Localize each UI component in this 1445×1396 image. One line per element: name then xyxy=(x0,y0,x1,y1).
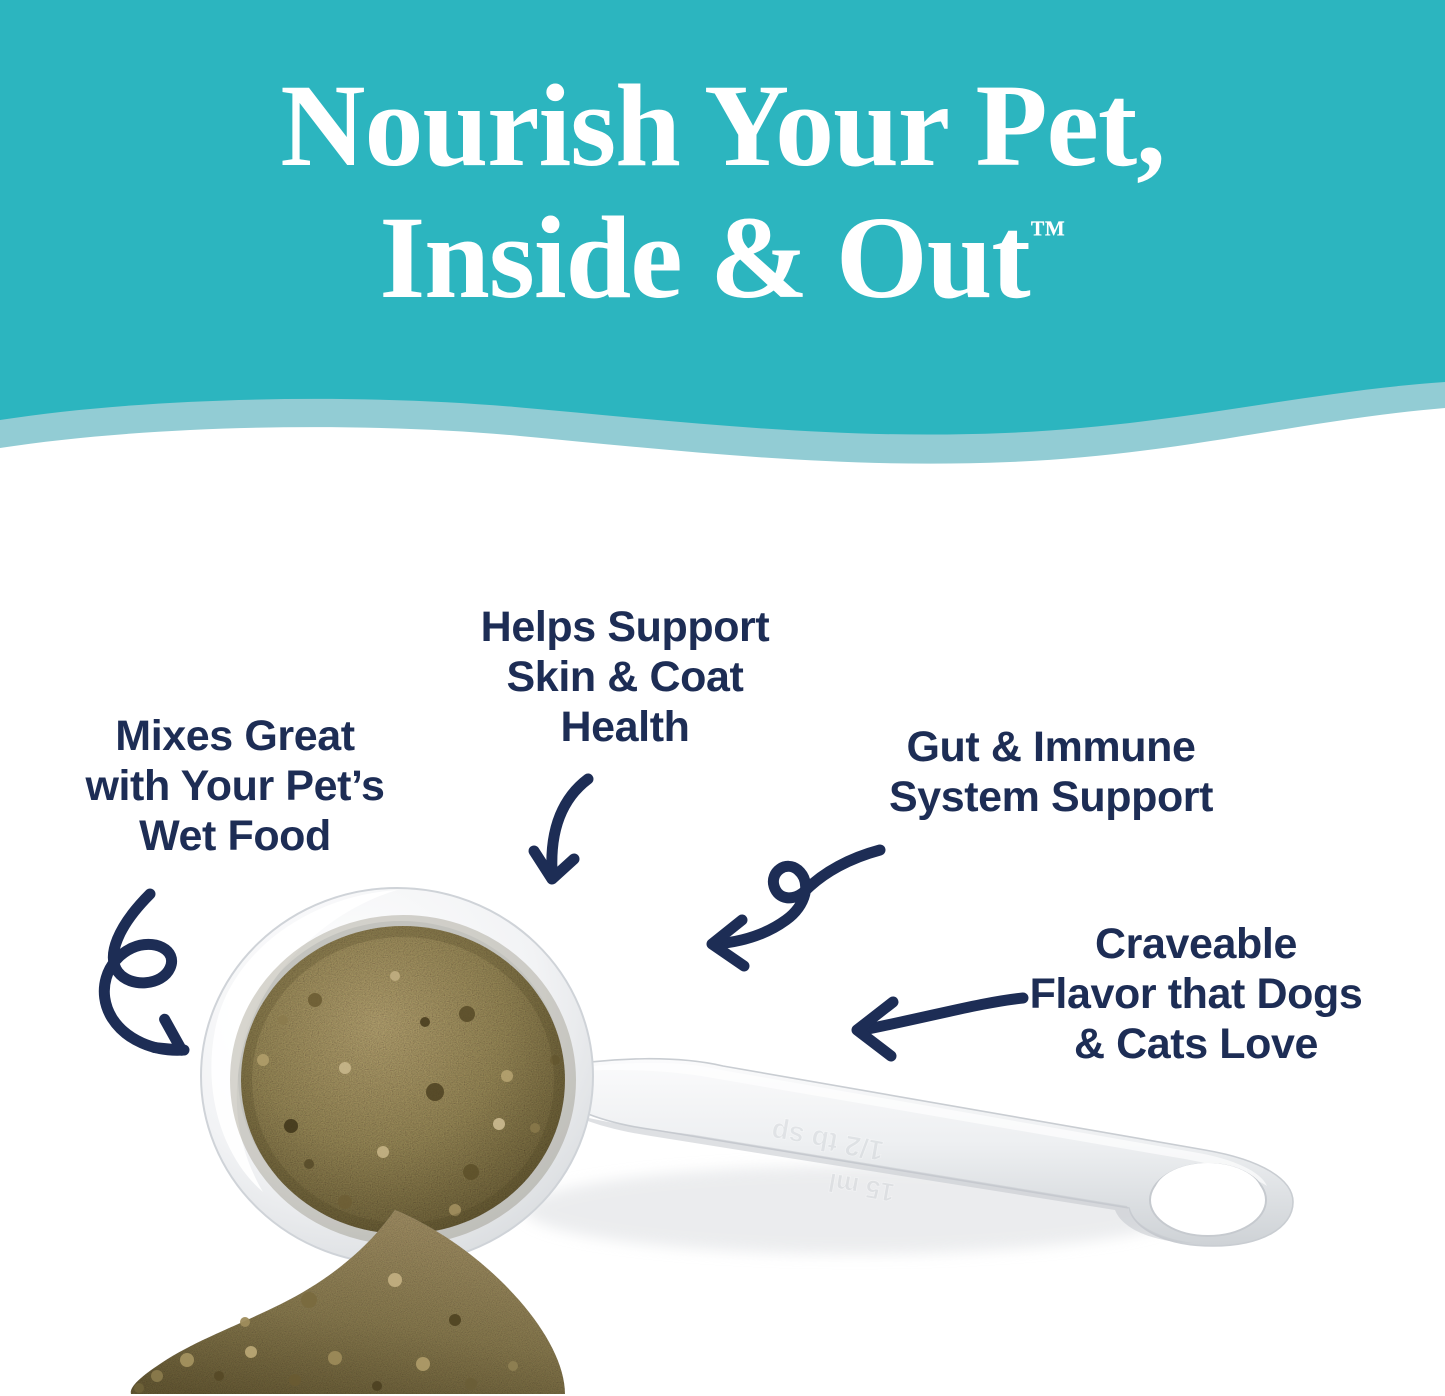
curved-arrow-left-icon xyxy=(843,978,1028,1073)
callout-skin-coat: Helps Support Skin & Coat Health xyxy=(425,603,825,753)
wave-primary xyxy=(0,0,1445,435)
curly-loop-arrow-down-right-icon xyxy=(88,890,238,1055)
callout-mixes-line-1: Mixes Great xyxy=(35,712,435,762)
callout-skin-line-2: Skin & Coat xyxy=(425,653,825,703)
curved-arrow-down-icon xyxy=(530,775,660,890)
callout-mixes-line-3: Wet Food xyxy=(35,812,435,862)
curly-loop-arrow-down-left-icon xyxy=(700,838,885,973)
callout-gut-immune: Gut & Immune System Support xyxy=(845,723,1257,823)
powder-in-scoop xyxy=(241,926,565,1234)
callout-mixes-great: Mixes Great with Your Pet’s Wet Food xyxy=(35,712,435,862)
wave-background xyxy=(0,0,1445,480)
marketing-infographic: Nourish Your Pet, Inside & Out™ xyxy=(0,0,1445,1396)
callout-gut-line-1: Gut & Immune xyxy=(845,723,1257,773)
callout-flavor-line-1: Craveable xyxy=(955,920,1437,970)
callout-mixes-line-2: with Your Pet’s xyxy=(35,762,435,812)
header-banner: Nourish Your Pet, Inside & Out™ xyxy=(0,0,1445,480)
callout-gut-line-2: System Support xyxy=(845,773,1257,823)
callout-skin-line-1: Helps Support xyxy=(425,603,825,653)
callout-skin-line-3: Health xyxy=(425,703,825,753)
